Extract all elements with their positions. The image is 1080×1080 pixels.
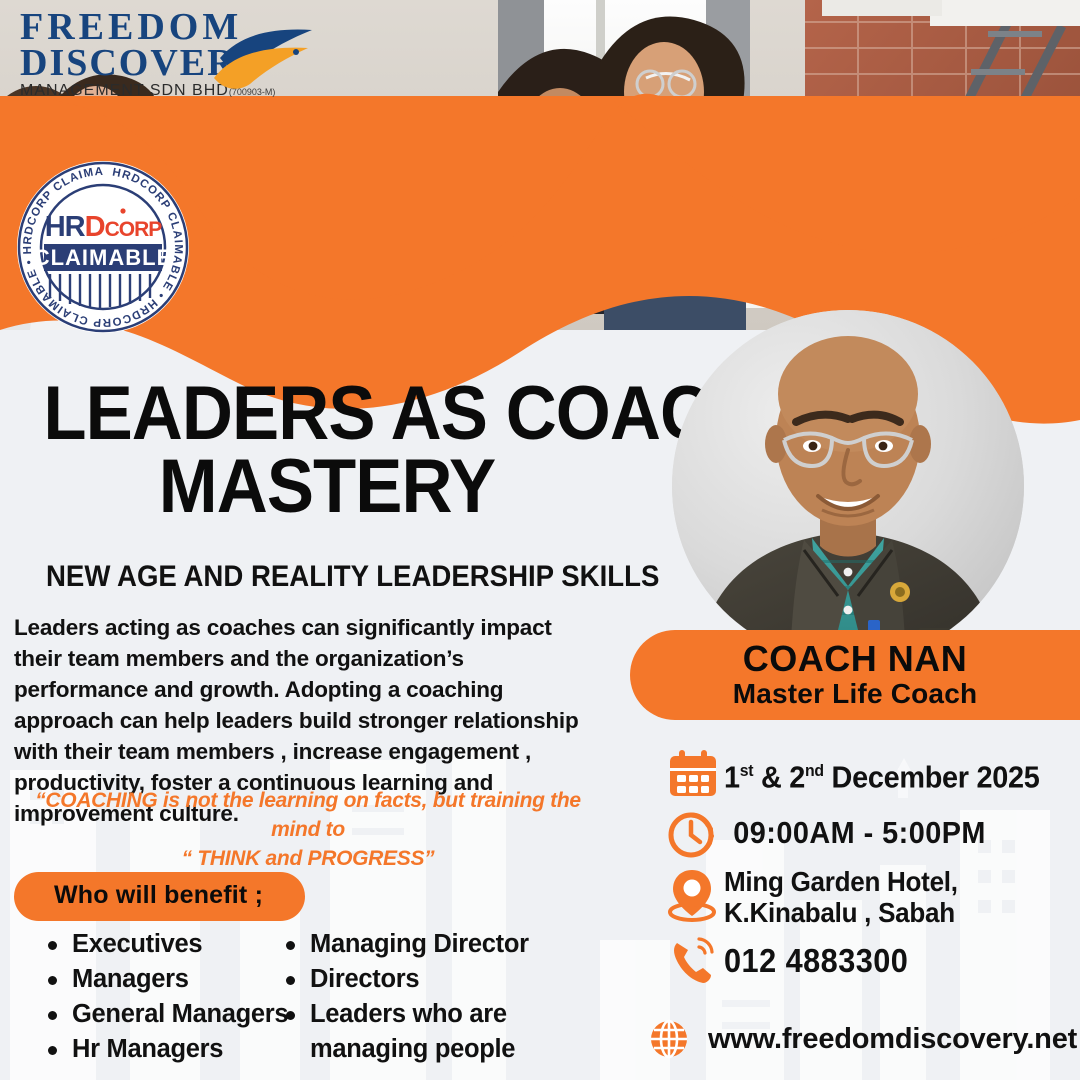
clock-icon <box>662 807 724 859</box>
event-date-text: 1st & 2nd December 2025 <box>724 754 1039 794</box>
speaker-name-badge: COACH NAN Master Life Coach <box>630 630 1080 720</box>
title-line-2: MASTERY <box>43 450 610 524</box>
phone-icon <box>662 935 724 987</box>
event-date-row: 1st & 2nd December 2025 <box>662 748 1080 800</box>
poster-subtitle: NEW AGE AND REALITY LEADERSHIP SKILLS <box>46 560 598 594</box>
globe-icon <box>648 1018 690 1060</box>
company-logo: FREEDOM DISCOVERY MANAGEMENT SDN BHD(700… <box>20 10 310 90</box>
poster-quote: “COACHING is not the learning on facts, … <box>8 786 608 873</box>
website-row[interactable]: www.freedomdiscovery.net <box>648 1018 1077 1060</box>
list-item: Managing Director <box>282 928 582 960</box>
website-url[interactable]: www.freedomdiscovery.net <box>708 1023 1077 1056</box>
list-item: managing people <box>282 1033 582 1065</box>
quote-line-2: “ THINK and PROGRESS” <box>182 847 435 870</box>
event-phone-text[interactable]: 012 4883300 <box>724 943 908 979</box>
event-venue-row: Ming Garden Hotel, K.Kinabalu , Sabah <box>662 866 1080 928</box>
list-item: Leaders who are <box>282 998 582 1030</box>
eagle-icon <box>208 28 318 90</box>
title-line-1: LEADERS AS COACHES <box>43 378 610 450</box>
speaker-role: Master Life Coach <box>733 678 978 710</box>
event-time-row: 09:00AM - 5:00PM <box>662 807 1080 859</box>
poster-title: LEADERS AS COACHES MASTERY <box>22 378 632 524</box>
hrdcorp-claimable-seal-icon: HRDCORP CLAIMABLE • HRDCORP CLAIMABLE • … <box>14 158 192 336</box>
who-will-benefit-pill: Who will benefit ; <box>14 872 305 921</box>
event-phone-row: 012 4883300 <box>662 935 1080 987</box>
event-details: 1st & 2nd December 2025 09:00AM - 5:00PM <box>662 748 1080 994</box>
calendar-icon <box>662 748 724 800</box>
svg-text:CLAIMABLE: CLAIMABLE <box>34 245 173 270</box>
event-venue-text: Ming Garden Hotel, K.Kinabalu , Sabah <box>724 866 958 928</box>
venue-line-1: Ming Garden Hotel, <box>724 866 958 897</box>
coach-portrait <box>672 310 1024 662</box>
venue-line-2: K.Kinabalu , Sabah <box>724 897 955 928</box>
location-pin-icon <box>662 868 724 926</box>
quote-line-1: “COACHING is not the learning on facts, … <box>35 789 581 841</box>
list-item: Directors <box>282 963 582 995</box>
event-time-text: 09:00AM - 5:00PM <box>724 816 986 850</box>
poster-canvas: FREEDOM DISCOVERY MANAGEMENT SDN BHD(700… <box>0 0 1080 1080</box>
speaker-name: COACH NAN <box>743 640 968 678</box>
benefit-list-column-2: Managing Director Directors Leaders who … <box>282 928 582 1068</box>
